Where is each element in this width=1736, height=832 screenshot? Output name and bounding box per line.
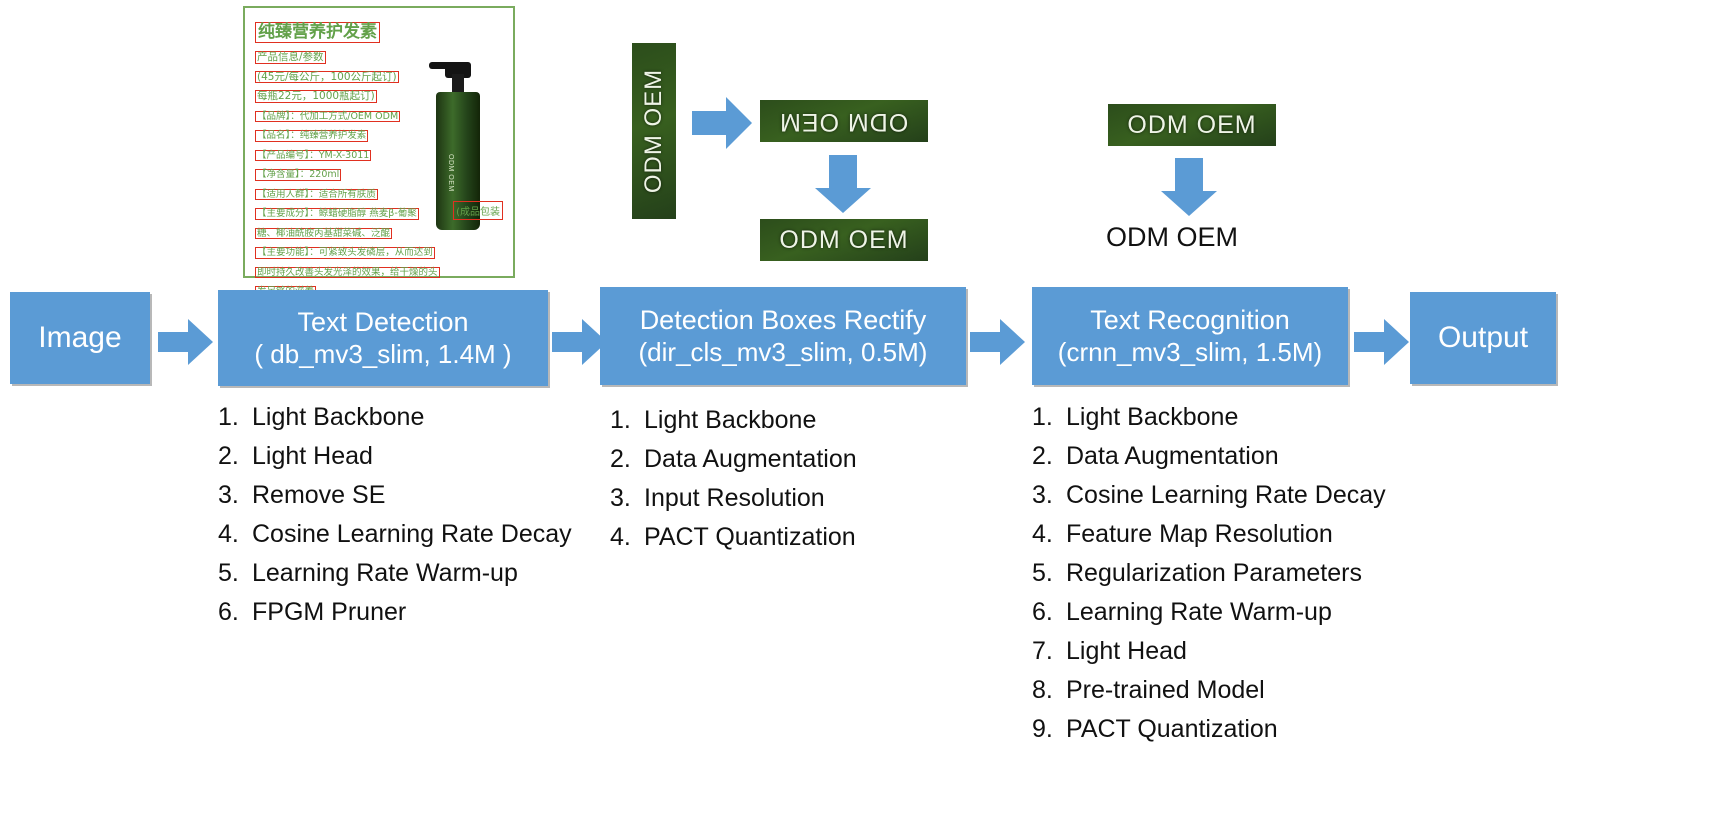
ocr-detection-box-title: 纯臻营养护发素 — [255, 22, 380, 43]
ocr-detection-box: 【主要成分】：鲸蜡硬脂醇 燕麦β-葡聚 — [255, 208, 419, 220]
stage-box-text-detection[interactable]: Text Detection ( db_mv3_slim, 1.4M ) — [218, 290, 548, 386]
ocr-detection-box: (45元/每公斤，100公斤起订) — [255, 71, 399, 84]
cropped-text-chip-flipped: ODM OEM — [760, 100, 928, 142]
ocr-detection-box: 【适用人群】：适合所有肤质 — [255, 189, 378, 201]
list-item-number: 8. — [1032, 678, 1066, 703]
cropped-text-chip-flipped-label: ODM OEM — [779, 107, 908, 136]
list-item-label: Input Resolution — [644, 486, 825, 511]
arrow-crop-to-rotated — [692, 95, 754, 156]
stage-box-text-detection-model: ( db_mv3_slim, 1.4M ) — [254, 339, 511, 369]
arrow-rotated-to-upright — [812, 155, 874, 220]
list-item: 3.Cosine Learning Rate Decay — [1032, 483, 1386, 508]
ocr-detection-box: 每瓶22元，1000瓶起订) — [255, 90, 377, 103]
arrow-rectify-to-recognition — [970, 318, 1026, 371]
list-item-label: Data Augmentation — [1066, 444, 1279, 469]
list-item-number: 4. — [218, 522, 252, 547]
ocr-detection-box: 产品信息/参数 — [255, 51, 326, 64]
list-item-number: 2. — [218, 444, 252, 469]
cropped-text-chip-upright: ODM OEM — [760, 219, 928, 261]
list-item-label: Learning Rate Warm-up — [252, 561, 518, 586]
arrow-image-to-detection — [158, 318, 214, 371]
list-item: 4.Feature Map Resolution — [1032, 522, 1386, 547]
stage-box-detection-boxes-rectify[interactable]: Detection Boxes Rectify (dir_cls_mv3_sli… — [600, 287, 966, 385]
stage-box-image-title: Image — [38, 321, 121, 356]
list-item-label: Light Backbone — [252, 405, 424, 430]
list-item-number: 1. — [1032, 405, 1066, 430]
list-item: 2.Data Augmentation — [610, 447, 857, 472]
list-item-number: 9. — [1032, 717, 1066, 742]
ocr-detection-box: 即时持久改善头发光泽的效果，给干燥的头 — [255, 267, 440, 279]
list-item: 8.Pre-trained Model — [1032, 678, 1386, 703]
list-item-label: PACT Quantization — [1066, 717, 1278, 742]
list-item-number: 4. — [610, 525, 644, 550]
ocr-detection-box: 【品名】：纯臻营养护发素 — [255, 130, 368, 142]
list-item-label: Data Augmentation — [644, 447, 857, 472]
stage-box-rectify-model: (dir_cls_mv3_slim, 0.5M) — [639, 337, 928, 367]
list-item-label: Light Backbone — [644, 408, 816, 433]
list-item: 7.Light Head — [1032, 639, 1386, 664]
list-item-number: 3. — [610, 486, 644, 511]
stage-box-text-recognition[interactable]: Text Recognition (crnn_mv3_slim, 1.5M) — [1032, 287, 1348, 385]
ocr-detected-text-column: 纯臻营养护发素 产品信息/参数 (45元/每公斤，100公斤起订) 每瓶22元，… — [255, 22, 437, 301]
list-item-label: PACT Quantization — [644, 525, 856, 550]
stage-box-output[interactable]: Output — [1410, 292, 1556, 384]
ocr-detection-box: 【主要功能】：可紧致头发磷层，从而达到 — [255, 247, 435, 259]
list-item: 6.FPGM Pruner — [218, 600, 572, 625]
ocr-detection-box: 【品牌】：代加工方式/OEM ODM — [255, 111, 400, 123]
stage-box-output-title: Output — [1438, 321, 1528, 356]
list-item-label: FPGM Pruner — [252, 600, 406, 625]
list-item-label: Remove SE — [252, 483, 385, 508]
recognition-input-chip: ODM OEM — [1108, 104, 1276, 146]
list-item: 4.Cosine Learning Rate Decay — [218, 522, 572, 547]
diagram-canvas: 纯臻营养护发素 产品信息/参数 (45元/每公斤，100公斤起订) 每瓶22元，… — [0, 0, 1736, 832]
list-item-label: Regularization Parameters — [1066, 561, 1362, 586]
ocr-detection-box: 糖、椰油酰胺丙基甜菜碱、泛醌 — [255, 228, 392, 240]
list-item-label: Light Backbone — [1066, 405, 1238, 430]
list-item-number: 3. — [218, 483, 252, 508]
recognition-optimization-list: 1.Light Backbone 2.Data Augmentation 3.C… — [1032, 405, 1386, 756]
detection-optimization-list: 1.Light Backbone 2.Light Head 3.Remove S… — [218, 405, 572, 639]
list-item: 3.Remove SE — [218, 483, 572, 508]
list-item-number: 7. — [1032, 639, 1066, 664]
list-item-number: 1. — [610, 408, 644, 433]
list-item: 3.Input Resolution — [610, 486, 857, 511]
list-item: 4.PACT Quantization — [610, 525, 857, 550]
stage-box-recognition-title: Text Recognition — [1090, 305, 1290, 336]
list-item-number: 6. — [1032, 600, 1066, 625]
list-item-number: 4. — [1032, 522, 1066, 547]
cropped-text-chip-upright-label: ODM OEM — [779, 226, 908, 255]
recognition-input-chip-label: ODM OEM — [1127, 111, 1256, 140]
list-item: 5.Regularization Parameters — [1032, 561, 1386, 586]
cropped-text-chip-vertical-label: ODM OEM — [640, 69, 668, 193]
list-item-number: 6. — [218, 600, 252, 625]
arrow-chip-to-recognized-text — [1158, 158, 1220, 223]
stage-box-rectify-title: Detection Boxes Rectify — [640, 305, 927, 336]
list-item-number: 3. — [1032, 483, 1066, 508]
list-item-label: Feature Map Resolution — [1066, 522, 1333, 547]
list-item: 1.Light Backbone — [218, 405, 572, 430]
list-item-number: 5. — [1032, 561, 1066, 586]
arrow-recognition-to-output — [1354, 318, 1410, 371]
list-item-number: 1. — [218, 405, 252, 430]
list-item-label: Cosine Learning Rate Decay — [1066, 483, 1386, 508]
bottle-label-text: ODM OEM — [447, 154, 454, 192]
stage-box-image[interactable]: Image — [10, 292, 150, 384]
list-item-label: Pre-trained Model — [1066, 678, 1265, 703]
list-item: 5.Learning Rate Warm-up — [218, 561, 572, 586]
list-item-number: 2. — [610, 447, 644, 472]
stage-box-recognition-model: (crnn_mv3_slim, 1.5M) — [1058, 337, 1322, 367]
ocr-detection-box: 【净含量】：220ml — [255, 169, 341, 181]
stage-box-text-detection-title: Text Detection — [297, 307, 468, 338]
list-item-label: Light Head — [252, 444, 373, 469]
list-item: 1.Light Backbone — [1032, 405, 1386, 430]
list-item-label: Light Head — [1066, 639, 1187, 664]
rectify-optimization-list: 1.Light Backbone 2.Data Augmentation 3.I… — [610, 408, 857, 564]
list-item: 9.PACT Quantization — [1032, 717, 1386, 742]
list-item-label: Learning Rate Warm-up — [1066, 600, 1332, 625]
cropped-text-chip-vertical: ODM OEM — [632, 43, 676, 219]
ocr-detection-box: (成品包装 — [453, 201, 503, 220]
list-item-label: Cosine Learning Rate Decay — [252, 522, 572, 547]
list-item-number: 5. — [218, 561, 252, 586]
list-item-number: 2. — [1032, 444, 1066, 469]
recognized-text-output: ODM OEM — [1106, 222, 1238, 253]
ocr-source-image-panel: 纯臻营养护发素 产品信息/参数 (45元/每公斤，100公斤起订) 每瓶22元，… — [243, 6, 515, 278]
list-item: 2.Light Head — [218, 444, 572, 469]
list-item: 6.Learning Rate Warm-up — [1032, 600, 1386, 625]
list-item: 2.Data Augmentation — [1032, 444, 1386, 469]
list-item: 1.Light Backbone — [610, 408, 857, 433]
ocr-detection-box: 【产品编号】：YM-X-3011 — [255, 150, 371, 162]
